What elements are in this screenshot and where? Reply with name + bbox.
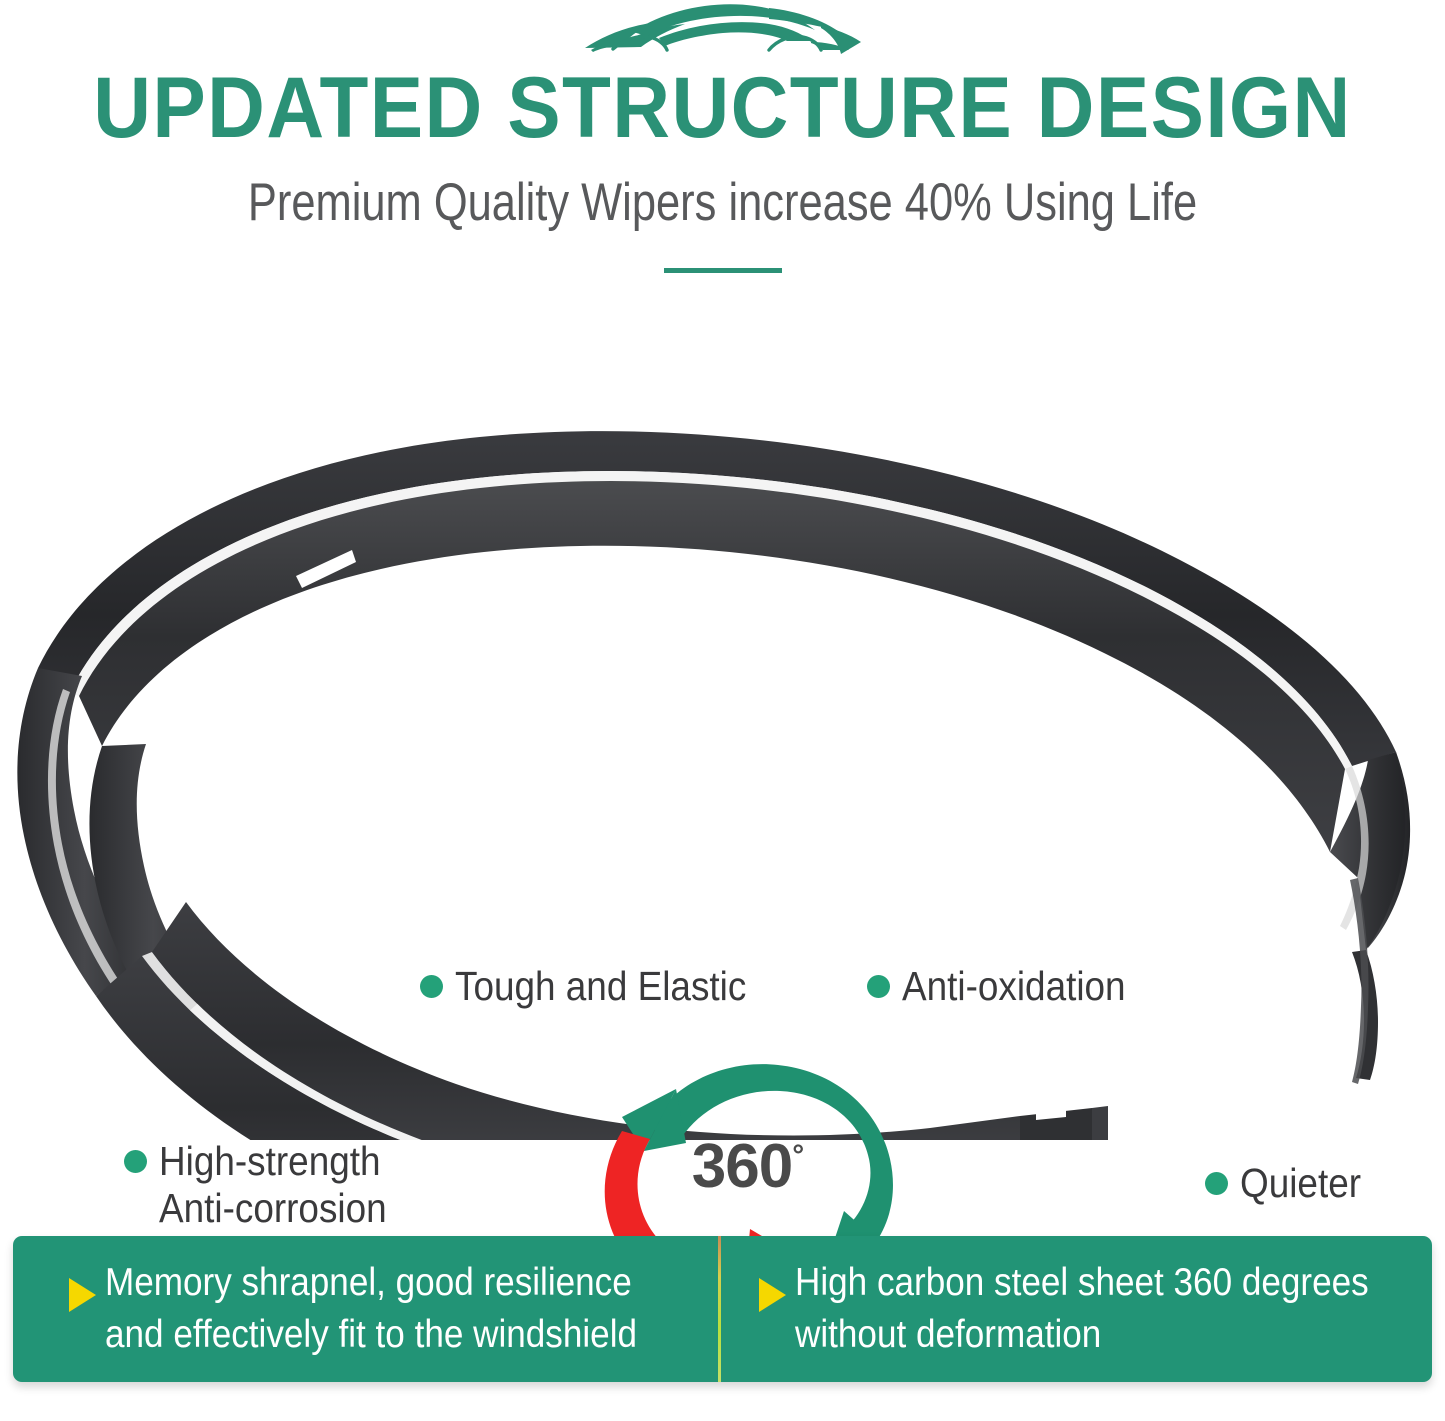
banner-text-line-2: and effectively fit to the windshield [105, 1309, 637, 1361]
product-image-area: 360° Tough and Elastic Anti-oxidation Hi… [0, 400, 1445, 1140]
banner-text-line-1: High carbon steel sheet 360 degrees [795, 1257, 1369, 1309]
page-subtitle: Premium Quality Wipers increase 40% Usin… [130, 173, 1315, 233]
bullet-dot-icon [1205, 1172, 1228, 1195]
feature-label-quieter: Quieter [1205, 1160, 1374, 1207]
feature-text: Quieter [1240, 1160, 1361, 1207]
feature-text: Tough and Elastic [455, 963, 746, 1010]
banner-text-line-2: without deformation [795, 1309, 1369, 1361]
banner-item-memory-shrapnel: Memory shrapnel, good resilience and eff… [13, 1236, 703, 1382]
feature-text-line-2: Anti-corrosion [159, 1185, 387, 1232]
bottom-feature-banner: Memory shrapnel, good resilience and eff… [13, 1236, 1432, 1382]
title-divider [664, 268, 782, 273]
bullet-dot-icon [867, 975, 890, 998]
triangle-bullet-icon [759, 1278, 786, 1312]
bullet-dot-icon [420, 975, 443, 998]
feature-text: Anti-oxidation [902, 963, 1126, 1010]
triangle-bullet-icon [69, 1278, 96, 1312]
page-title: UPDATED STRUCTURE DESIGN [51, 62, 1395, 154]
banner-text-line-1: Memory shrapnel, good resilience [105, 1257, 637, 1309]
header-section: UPDATED STRUCTURE DESIGN Premium Quality… [0, 0, 1445, 300]
car-silhouette-logo-icon [573, 2, 873, 64]
feature-text-line-1: High-strength [159, 1138, 387, 1185]
feature-label-tough-and-elastic: Tough and Elastic [420, 963, 779, 1010]
feature-label-anti-oxidation: Anti-oxidation [867, 963, 1150, 1010]
steel-band-image [0, 400, 1445, 1140]
banner-item-high-carbon-steel: High carbon steel sheet 360 degrees with… [703, 1236, 1432, 1382]
feature-label-high-strength-anti-corrosion: High-strength Anti-corrosion [124, 1138, 412, 1232]
bullet-dot-icon [124, 1150, 147, 1173]
